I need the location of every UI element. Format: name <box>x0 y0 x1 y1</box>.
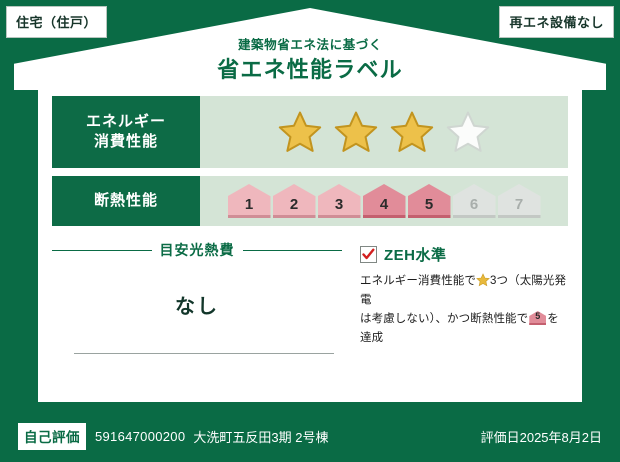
heading-rule-right <box>243 250 343 251</box>
energy-label-line2: 消費性能 <box>94 132 158 152</box>
insulation-levels-body: 1234567 <box>200 176 568 226</box>
insulation-level-6: 6 <box>453 184 496 218</box>
energy-label-root: 住宅（住戸） 再エネ設備なし 建築物省エネ法に基づく 省エネ性能ラベル エネルギ… <box>0 0 620 462</box>
evaluation-type-badge: 自己評価 <box>18 423 86 450</box>
utility-cost-section: 目安光熱費 なし <box>52 234 352 384</box>
zeh-heading: ZEH水準 <box>360 244 568 265</box>
property-address: 大洗町五反田3期 2号棟 <box>193 427 328 446</box>
building-type-tag: 住宅（住戸） <box>6 6 107 38</box>
zeh-desc-part3: は考慮しない）、かつ断熱性能で <box>360 313 528 325</box>
insulation-level-4: 4 <box>363 184 406 218</box>
certificate-id: 591647000200 <box>95 429 185 444</box>
label-title-block: 建築物省エネ法に基づく 省エネ性能ラベル <box>0 38 620 83</box>
insulation-level-1: 1 <box>228 184 271 218</box>
insulation-level-badges: 1234567 <box>228 184 541 218</box>
title-subtitle: 建築物省エネ法に基づく <box>0 38 620 53</box>
label-footer: 自己評価 591647000200 大洗町五反田3期 2号棟 評価日2025年8… <box>0 410 620 462</box>
energy-performance-row: エネルギー 消費性能 <box>52 96 568 168</box>
star-filled-icon <box>389 110 435 154</box>
star-filled-icon <box>277 110 323 154</box>
insulation-level-7: 7 <box>498 184 541 218</box>
insulation-level-5: 5 <box>408 184 451 218</box>
label-content: エネルギー 消費性能 断熱性能 1234567 目安光熱費 なし <box>38 96 582 402</box>
page-title: 省エネ性能ラベル <box>0 57 620 83</box>
badge-number: 4 <box>380 196 388 218</box>
badge-number: 6 <box>470 196 478 218</box>
star-empty-icon <box>445 110 491 154</box>
insulation-level-3: 3 <box>318 184 361 218</box>
inline-insulation-badge: 5 <box>529 311 546 325</box>
utility-cost-heading: 目安光熱費 <box>52 240 342 260</box>
utility-cost-value: なし <box>52 290 342 319</box>
utility-cost-heading-text: 目安光熱費 <box>160 240 235 260</box>
energy-label-line1: エネルギー <box>86 112 166 132</box>
insulation-label-text: 断熱性能 <box>94 191 158 211</box>
check-icon <box>362 248 375 261</box>
utility-cost-underline <box>74 353 334 354</box>
zeh-desc-part1: エネルギー消費性能で <box>360 275 476 287</box>
insulation-performance-row: 断熱性能 1234567 <box>52 176 568 226</box>
heading-rule-left <box>52 250 152 251</box>
insulation-level-2: 2 <box>273 184 316 218</box>
renewable-energy-tag: 再エネ設備なし <box>499 6 614 38</box>
energy-performance-label: エネルギー 消費性能 <box>52 96 200 168</box>
badge-number: 2 <box>290 196 298 218</box>
insulation-performance-label: 断熱性能 <box>52 176 200 226</box>
badge-number: 3 <box>335 196 343 218</box>
star-filled-icon <box>333 110 379 154</box>
inline-badge-number: 5 <box>529 311 546 325</box>
zeh-description: エネルギー消費性能で3つ（太陽光発電 は考慮しない）、かつ断熱性能で5を達成 <box>360 272 568 348</box>
badge-number: 7 <box>515 196 523 218</box>
badge-number: 5 <box>425 196 433 218</box>
zeh-checkbox[interactable] <box>360 246 377 263</box>
inline-star-icon <box>476 273 490 287</box>
zeh-title-text: ZEH水準 <box>384 244 447 265</box>
evaluation-date: 評価日2025年8月2日 <box>481 427 602 446</box>
energy-star-rating <box>200 96 568 168</box>
lower-section: 目安光熱費 なし ZEH水準 エネルギー消費性能で3つ（太陽光発電 <box>52 234 568 384</box>
badge-number: 1 <box>245 196 253 218</box>
zeh-section: ZEH水準 エネルギー消費性能で3つ（太陽光発電 は考慮しない）、かつ断熱性能で… <box>352 234 568 384</box>
